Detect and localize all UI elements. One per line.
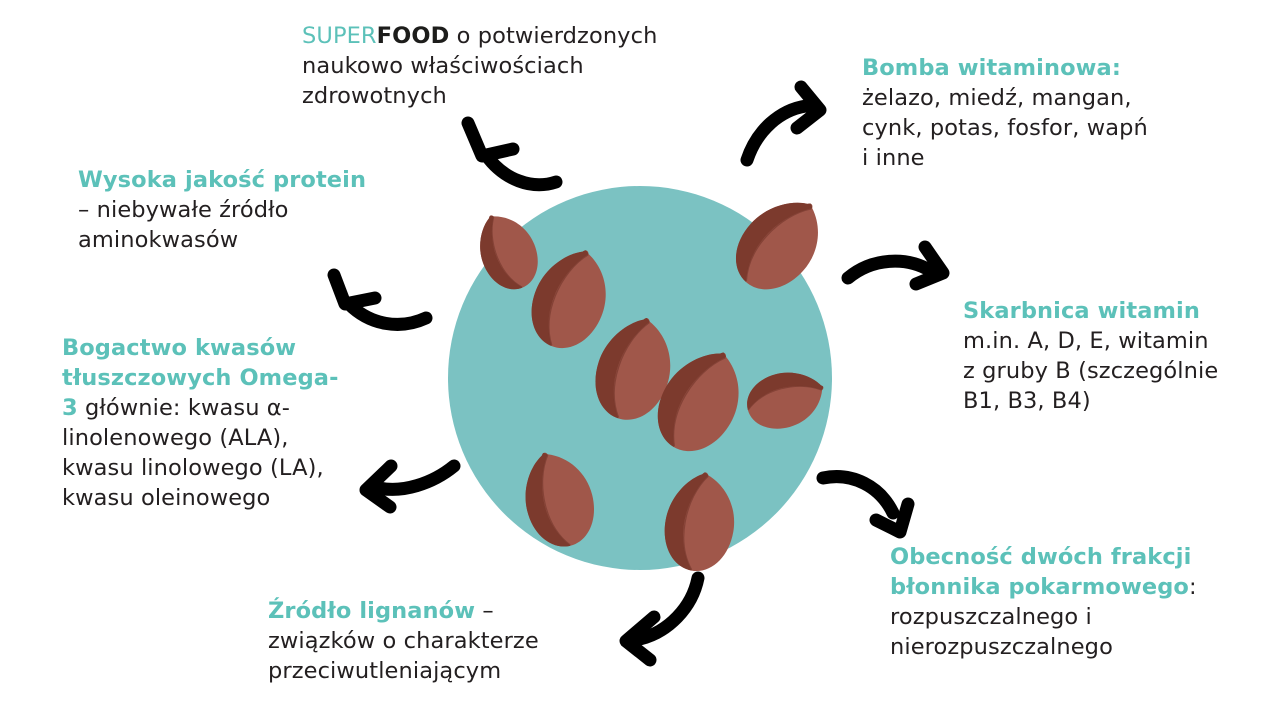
seed-8	[741, 363, 831, 436]
callout-protein-highlight: Wysoka jakość protein	[78, 167, 366, 193]
callout-vitamin-bomb-body: żelazo, miedź, mangan, cynk, potas, fosf…	[862, 85, 1148, 171]
callout-omega3-body: głównie: kwasu α-linolenowego (ALA), kwa…	[62, 395, 324, 511]
callout-vitamin-bomb-highlight: Bomba witaminowa:	[862, 55, 1121, 81]
arrow-to-lignans-icon	[626, 578, 698, 660]
callout-superfood: SUPERFOOD o potwierdzonych naukowo właśc…	[302, 22, 712, 112]
arrow-to-omega3-icon	[366, 466, 454, 507]
callout-protein: Wysoka jakość protein – niebywałe źródło…	[78, 166, 378, 256]
arrow-to-protein-icon	[334, 275, 426, 324]
callout-vitamins: Skarbnica witamin m.in. A, D, E, witamin…	[963, 297, 1225, 417]
callout-fiber-highlight: Obecność dwóch frakcji błonnika pokarmow…	[890, 544, 1191, 600]
seed-2	[519, 239, 622, 360]
callout-lignans-highlight: Źródło lignanów	[268, 598, 475, 624]
callout-vitamins-body: m.in. A, D, E, witamin z gruby B (szczeg…	[963, 328, 1218, 414]
arrow-to-vitamin-bomb-icon	[747, 87, 820, 160]
seed-6	[658, 467, 743, 576]
seed-cluster	[468, 183, 840, 577]
callout-fiber: Obecność dwóch frakcji błonnika pokarmow…	[890, 543, 1220, 663]
arrow-to-superfood-icon	[468, 123, 556, 185]
arrow-to-fiber-icon	[823, 477, 908, 532]
callout-vitamins-highlight: Skarbnica witamin	[963, 298, 1200, 324]
infographic-canvas: SUPERFOOD o potwierdzonych naukowo właśc…	[0, 0, 1280, 720]
callout-omega3: Bogactwo kwasów tłuszczowych Omega-3 głó…	[62, 334, 344, 514]
callout-vitamin-bomb: Bomba witaminowa: żelazo, miedź, mangan,…	[862, 54, 1152, 174]
seed-7	[720, 183, 840, 306]
seed-4	[642, 336, 759, 465]
seed-3	[584, 308, 685, 429]
teal-circle-background	[448, 186, 832, 570]
callout-lignans: Źródło lignanów – związków o charakterze…	[268, 597, 608, 687]
callout-protein-body: – niebywałe źródło aminokwasów	[78, 197, 289, 253]
callout-superfood-highlight-dark: FOOD	[377, 23, 450, 49]
callout-superfood-highlight: SUPER	[302, 23, 377, 49]
seed-1	[468, 204, 548, 297]
arrow-to-vitamins-icon	[848, 247, 943, 284]
seed-5	[515, 444, 603, 554]
